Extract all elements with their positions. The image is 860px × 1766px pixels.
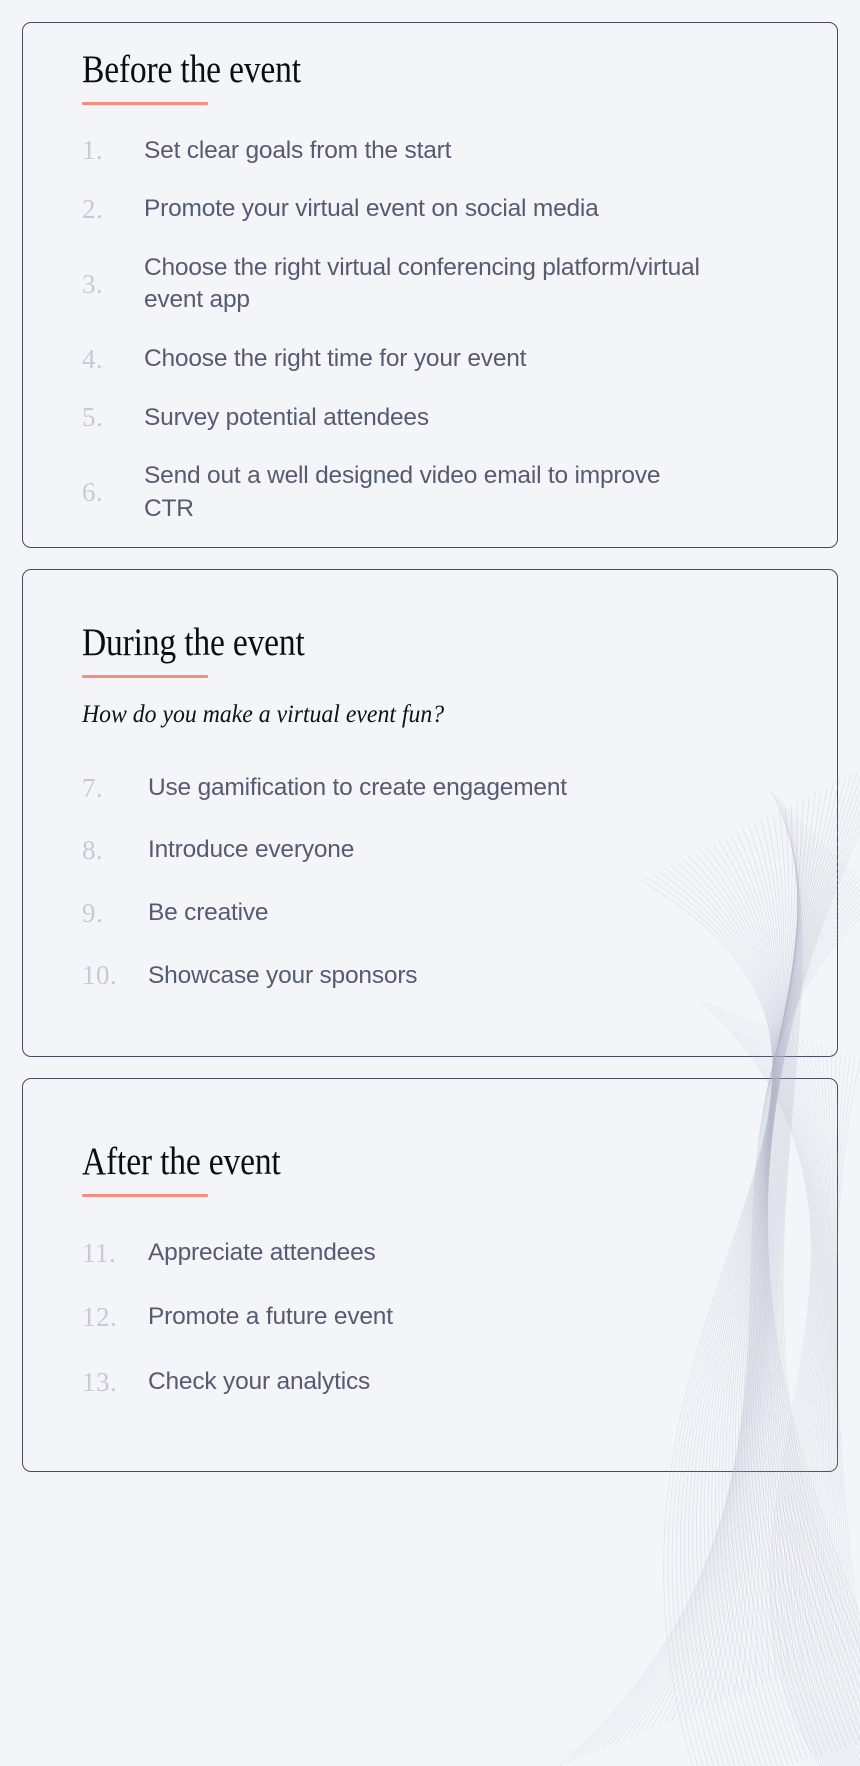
title-underline-before [82, 102, 208, 105]
list-item-label: Appreciate attendees [148, 1237, 588, 1270]
list-item-label: Set clear goals from the start [144, 135, 704, 168]
list-item-number: 11. [82, 1240, 148, 1267]
list-item-label: Introduce everyone [148, 834, 588, 867]
list-item-number: 8. [82, 837, 148, 864]
list-item: 12. Promote a future event [82, 1301, 803, 1334]
list-item-label: Promote a future event [148, 1301, 588, 1334]
list-item-number: 10. [82, 962, 148, 989]
list-item: 2. Promote your virtual event on social … [82, 193, 803, 226]
list-item: 6. Send out a well designed video email … [82, 460, 803, 525]
section-subtitle-during: How do you make a virtual event fun? [82, 700, 767, 730]
checklist-page: Before the event 1. Set clear goals from… [0, 0, 860, 1766]
list-item-number: 9. [82, 900, 148, 927]
list-item-number: 1. [82, 137, 144, 164]
list-item-label: Survey potential attendees [144, 402, 704, 435]
list-item-label: Send out a well designed video email to … [144, 460, 704, 525]
page-title-during: During the event [82, 622, 702, 664]
section-card-after: After the event 11. Appreciate attendees… [22, 1078, 838, 1471]
list-item: 10. Showcase your sponsors [82, 960, 803, 993]
list-item: 13. Check your analytics [82, 1366, 803, 1399]
title-underline-after [82, 1194, 208, 1197]
list-item-number: 3. [82, 271, 144, 298]
checklist-before: 1. Set clear goals from the start 2. Pro… [82, 135, 803, 526]
list-item-number: 7. [82, 775, 148, 802]
list-item: 11. Appreciate attendees [82, 1237, 803, 1270]
list-item-label: Be creative [148, 897, 588, 930]
list-item: 4. Choose the right time for your event [82, 343, 803, 376]
list-item-number: 2. [82, 196, 144, 223]
list-item: 5. Survey potential attendees [82, 402, 803, 435]
list-item-number: 6. [82, 479, 144, 506]
list-item: 1. Set clear goals from the start [82, 135, 803, 168]
page-title-before: Before the event [82, 49, 702, 91]
checklist-during: 7. Use gamification to create engagement… [82, 772, 803, 992]
page-title-after: After the event [82, 1141, 702, 1183]
section-card-during: During the event How do you make a virtu… [22, 569, 838, 1057]
section-card-before: Before the event 1. Set clear goals from… [22, 22, 838, 548]
list-item-number: 4. [82, 346, 144, 373]
title-underline-during [82, 675, 208, 678]
list-item: 8. Introduce everyone [82, 834, 803, 867]
list-item-label: Check your analytics [148, 1366, 588, 1399]
list-item-number: 13. [82, 1369, 148, 1396]
checklist-after: 11. Appreciate attendees 12. Promote a f… [82, 1237, 803, 1399]
list-item: 3. Choose the right virtual conferencing… [82, 252, 803, 317]
list-item: 7. Use gamification to create engagement [82, 772, 803, 805]
list-item-label: Choose the right virtual conferencing pl… [144, 252, 704, 317]
list-item-label: Promote your virtual event on social med… [144, 193, 704, 226]
list-item-label: Choose the right time for your event [144, 343, 704, 376]
list-item: 9. Be creative [82, 897, 803, 930]
list-item-number: 5. [82, 404, 144, 431]
list-item-number: 12. [82, 1304, 148, 1331]
list-item-label: Showcase your sponsors [148, 960, 588, 993]
list-item-label: Use gamification to create engagement [148, 772, 588, 805]
